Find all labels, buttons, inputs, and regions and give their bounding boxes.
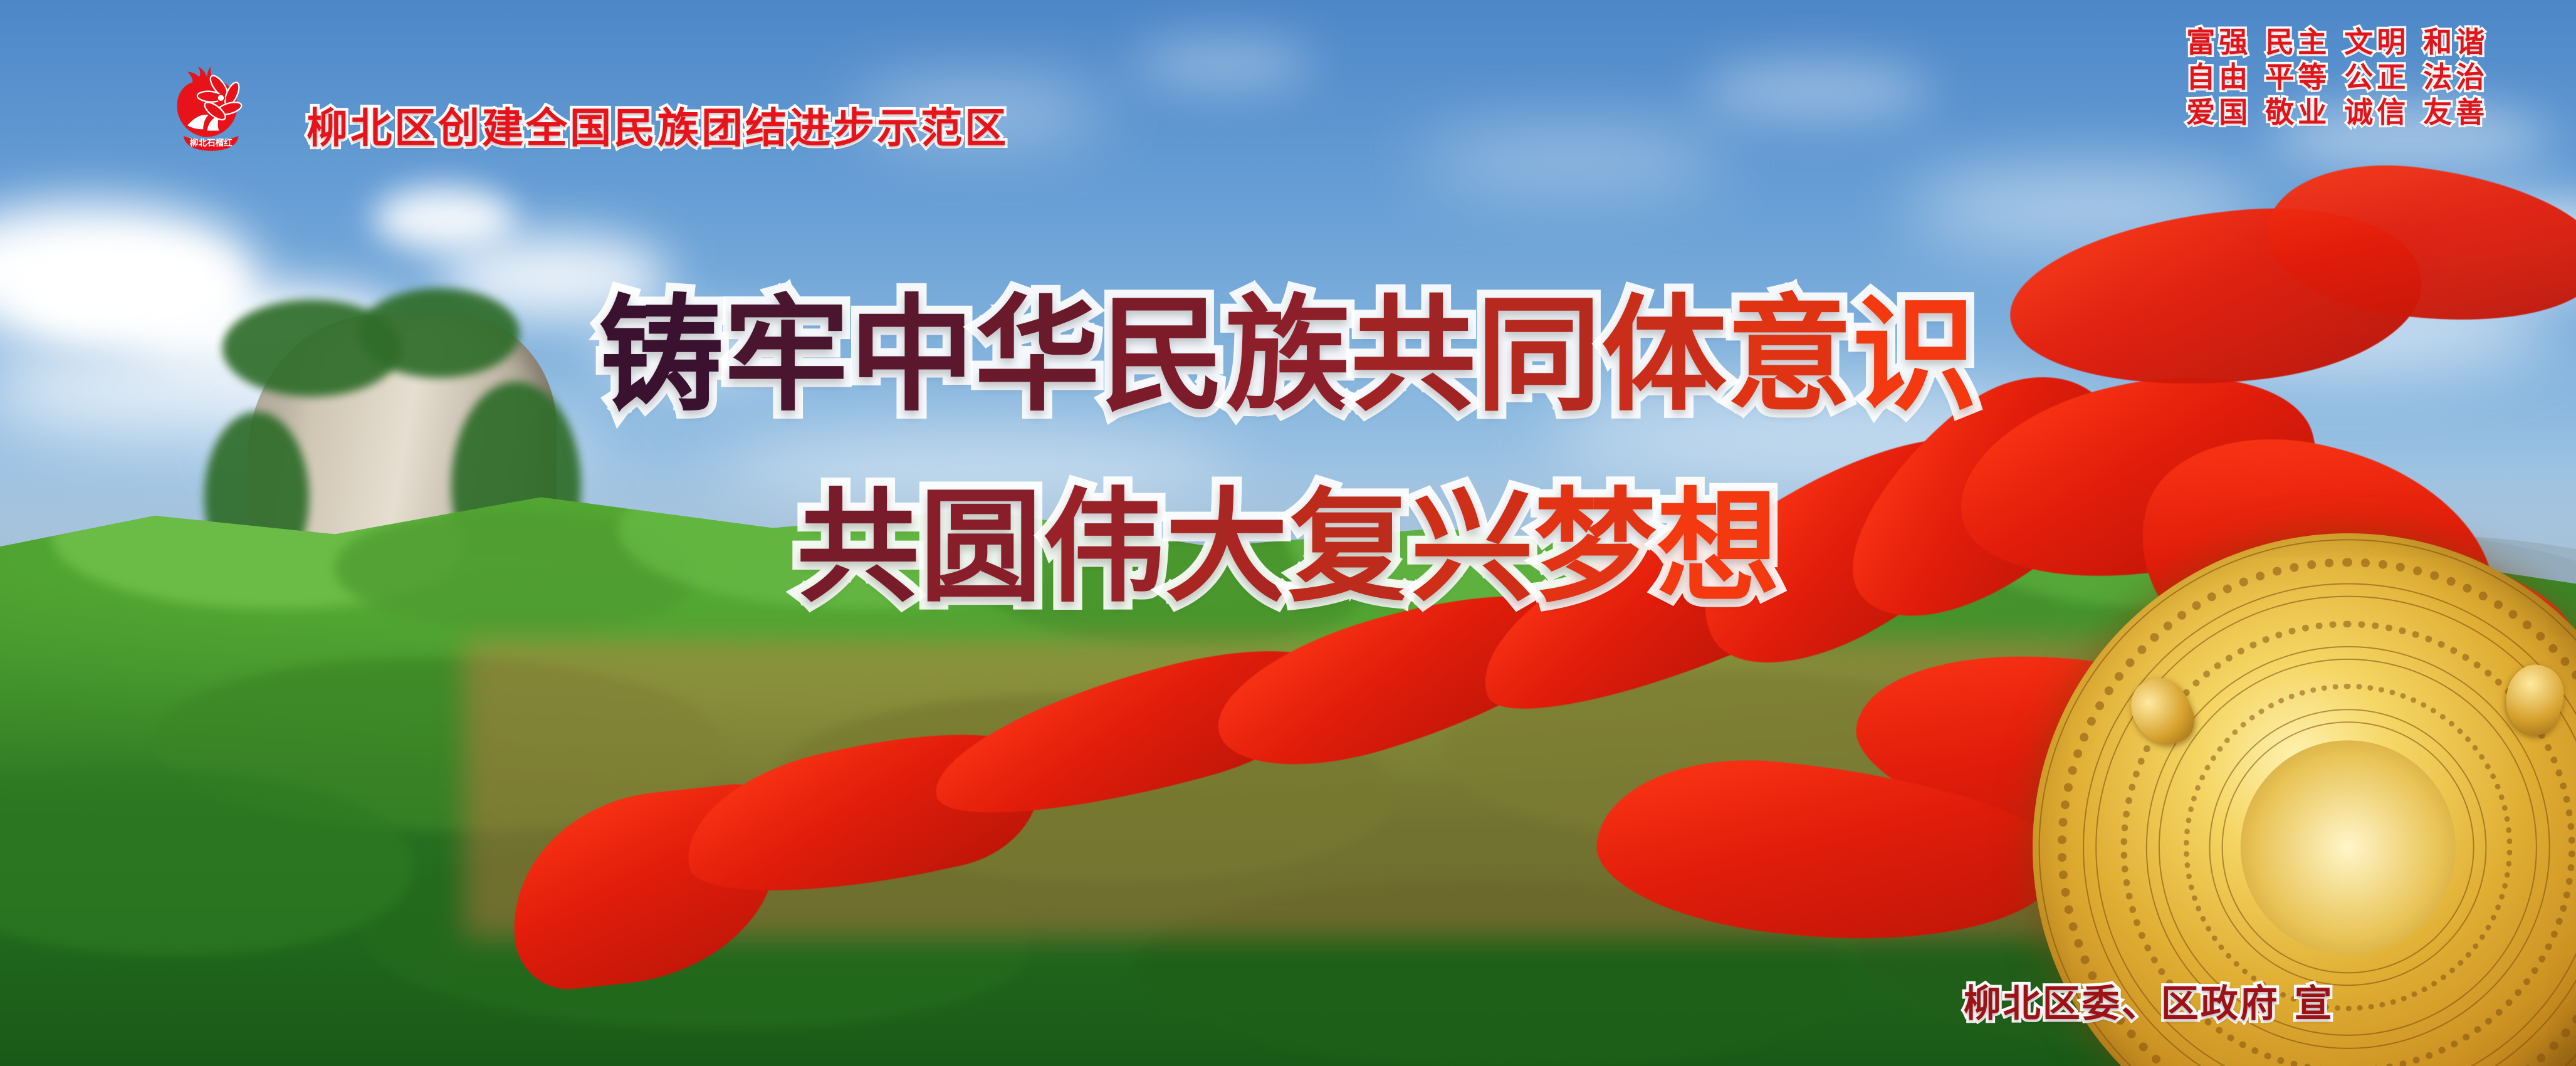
slogan-char: 想 <box>1657 486 1779 609</box>
slogan-char: 共 <box>1351 293 1476 419</box>
logo-banner-text: 柳北石榴红 <box>190 137 233 148</box>
slogan-char: 同 <box>1476 293 1601 419</box>
slogan-char: 梦 <box>1534 486 1657 609</box>
slogan-char: 共 <box>797 486 919 609</box>
slogan-char: 体 <box>1601 293 1727 419</box>
slogan-line-1: 铸牢中华民族共同体意识 <box>0 293 2576 419</box>
logo-banner: 柳北石榴红 <box>184 136 239 151</box>
values-row-2: 自由 平等 公正 法治 <box>2186 60 2488 95</box>
header-title: 柳北区创建全国民族团结进步示范区 <box>306 108 1008 149</box>
slogan-char: 复 <box>1288 486 1411 609</box>
slogan-line-2: 共圆伟大复兴梦想 <box>0 486 2576 609</box>
slogan-char: 铸 <box>599 293 724 419</box>
slogan-char: 伟 <box>1042 486 1165 609</box>
core-socialist-values: 富强 民主 文明 和谐 自由 平等 公正 法治 爱国 敬业 诚信 友善 <box>2186 24 2488 130</box>
slogan-char: 中 <box>849 293 975 419</box>
slogan-char: 牢 <box>724 293 849 419</box>
liubei-pomegranate-logo: 柳北石榴红 <box>170 65 253 157</box>
propaganda-poster: 柳北石榴红 柳北区创建全国民族团结进步示范区 富强 民主 文明 和谐 自由 平等… <box>0 0 2576 1066</box>
values-row-3: 爱国 敬业 诚信 友善 <box>2186 95 2488 130</box>
slogan-char: 意 <box>1727 293 1852 419</box>
values-row-1: 富强 民主 文明 和谐 <box>2186 24 2488 60</box>
sun-core <box>2241 741 2455 954</box>
slogan-char: 民 <box>1100 293 1225 419</box>
slogan-char: 大 <box>1165 486 1288 609</box>
slogan-char: 族 <box>1225 293 1351 419</box>
slogan-char: 华 <box>975 293 1100 419</box>
slogan-char: 圆 <box>919 486 1042 609</box>
slogan-char: 识 <box>1852 293 1977 419</box>
issuer-signature: 柳北区委、区政府 宣 <box>1964 973 2334 1028</box>
slogan-char: 兴 <box>1411 486 1534 609</box>
